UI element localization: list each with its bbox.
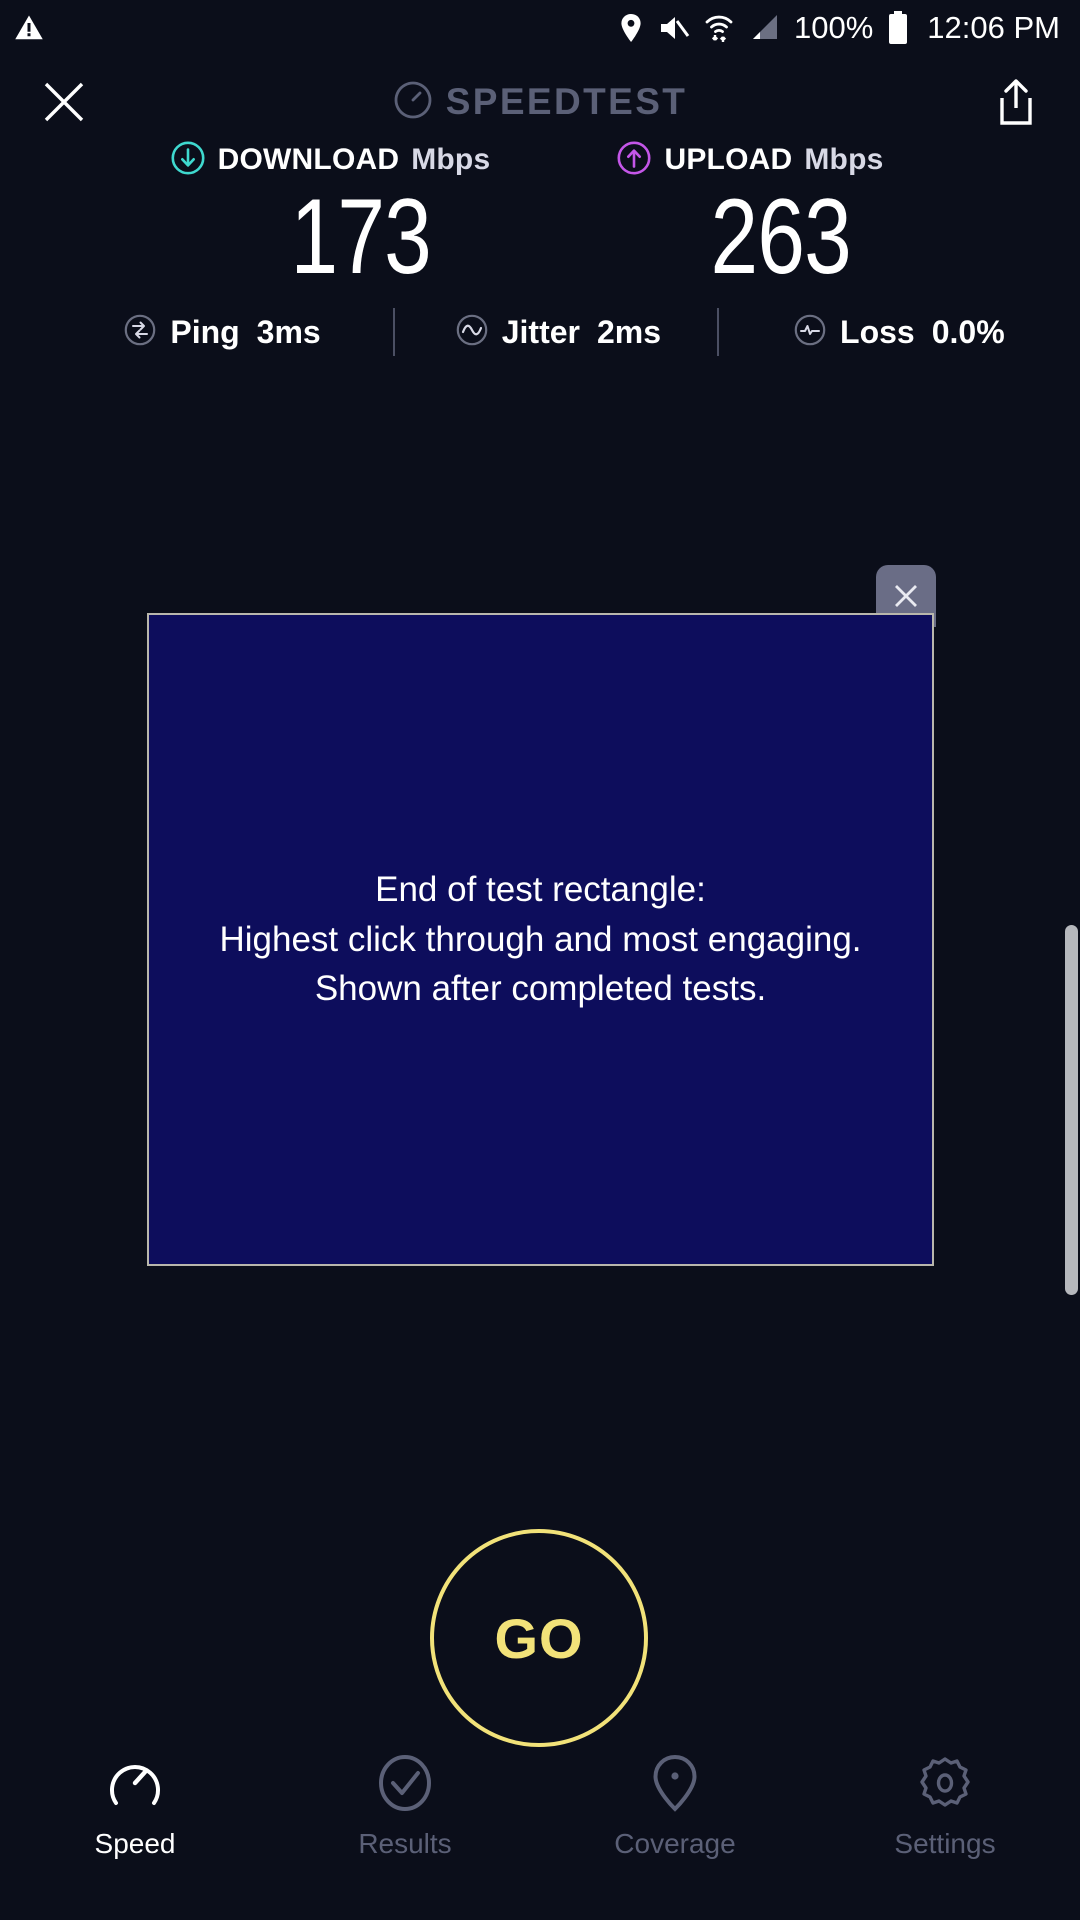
go-button[interactable]: GO: [430, 1529, 648, 1747]
ping-value: 3ms: [257, 314, 321, 351]
loss-value: 0.0%: [932, 314, 1005, 351]
status-bar-left: [14, 13, 44, 43]
download-header: DOWNLOAD Mbps: [170, 140, 491, 180]
nav-item-coverage[interactable]: Coverage: [540, 1730, 810, 1860]
ad-body[interactable]: End of test rectangle: Highest click thr…: [147, 613, 934, 1266]
stat-separator: [717, 308, 719, 356]
status-time-label: 12:06 PM: [927, 10, 1060, 46]
share-button[interactable]: [980, 66, 1052, 138]
check-circle-icon: [373, 1744, 437, 1822]
status-bar: 100% 12:06 PM: [0, 0, 1080, 56]
volume-mute-icon: [658, 14, 690, 42]
loss-icon: [793, 313, 827, 352]
ping-jitter-loss-row: Ping 3ms Jitter 2ms Loss 0.0: [0, 298, 1080, 366]
nav-label-coverage: Coverage: [614, 1828, 735, 1860]
jitter-icon: [455, 313, 489, 352]
speedtest-gauge-icon: [393, 80, 433, 125]
warning-triangle-icon: [14, 13, 44, 43]
brand-title: SPEEDTEST: [446, 81, 688, 123]
battery-percent-label: 100%: [794, 10, 873, 46]
speedometer-icon: [103, 1744, 167, 1822]
nav-label-speed: Speed: [95, 1828, 176, 1860]
speedtest-app-screen: 100% 12:06 PM SPEEDTEST: [0, 0, 1080, 1920]
download-unit: Mbps: [411, 143, 490, 177]
app-header: SPEEDTEST: [0, 56, 1080, 148]
upload-arrow-circle-icon: [616, 140, 652, 181]
stat-separator: [393, 308, 395, 356]
advertisement: End of test rectangle: Highest click thr…: [147, 613, 934, 1266]
download-value: 173: [291, 182, 431, 291]
nav-item-results[interactable]: Results: [270, 1730, 540, 1860]
close-button[interactable]: [28, 66, 100, 138]
upload-unit: Mbps: [804, 143, 883, 177]
wifi-icon: [704, 13, 734, 43]
upload-metric: UPLOAD Mbps 263: [550, 140, 950, 291]
share-icon: [994, 77, 1038, 127]
nav-label-settings: Settings: [894, 1828, 995, 1860]
map-pin-icon: [643, 1744, 707, 1822]
close-icon: [41, 79, 87, 125]
bottom-navigation: Speed Results Coverage: [0, 1730, 1080, 1920]
battery-full-icon: [887, 11, 909, 45]
download-upload-row: DOWNLOAD Mbps 173 UPLOAD Mbps: [0, 140, 1080, 291]
ping-icon: [123, 313, 157, 352]
brand: SPEEDTEST: [0, 80, 1080, 125]
nav-item-settings[interactable]: Settings: [810, 1730, 1080, 1860]
download-label: DOWNLOAD: [218, 143, 400, 177]
ad-text: End of test rectangle: Highest click thr…: [209, 865, 871, 1014]
upload-label: UPLOAD: [664, 143, 792, 177]
upload-header: UPLOAD Mbps: [616, 140, 883, 180]
upload-value: 263: [711, 182, 851, 291]
ping-stat: Ping 3ms: [123, 313, 320, 352]
loss-stat: Loss 0.0%: [793, 313, 1005, 352]
location-pin-icon: [618, 13, 644, 43]
ping-label: Ping: [170, 314, 239, 351]
loss-label: Loss: [840, 314, 915, 351]
download-metric: DOWNLOAD Mbps 173: [130, 140, 530, 291]
result-summary: DOWNLOAD Mbps 173 UPLOAD Mbps: [0, 140, 1080, 291]
download-arrow-circle-icon: [170, 140, 206, 181]
nav-label-results: Results: [358, 1828, 451, 1860]
close-icon: [891, 581, 921, 611]
gear-icon: [913, 1744, 977, 1822]
cell-signal-icon: [748, 13, 780, 43]
jitter-value: 2ms: [597, 314, 661, 351]
jitter-label: Jitter: [502, 314, 580, 351]
nav-item-speed[interactable]: Speed: [0, 1730, 270, 1860]
jitter-stat: Jitter 2ms: [455, 313, 661, 352]
page-scrollbar[interactable]: [1065, 925, 1078, 1295]
go-button-label: GO: [494, 1606, 583, 1671]
status-bar-right: 100% 12:06 PM: [618, 10, 1060, 46]
